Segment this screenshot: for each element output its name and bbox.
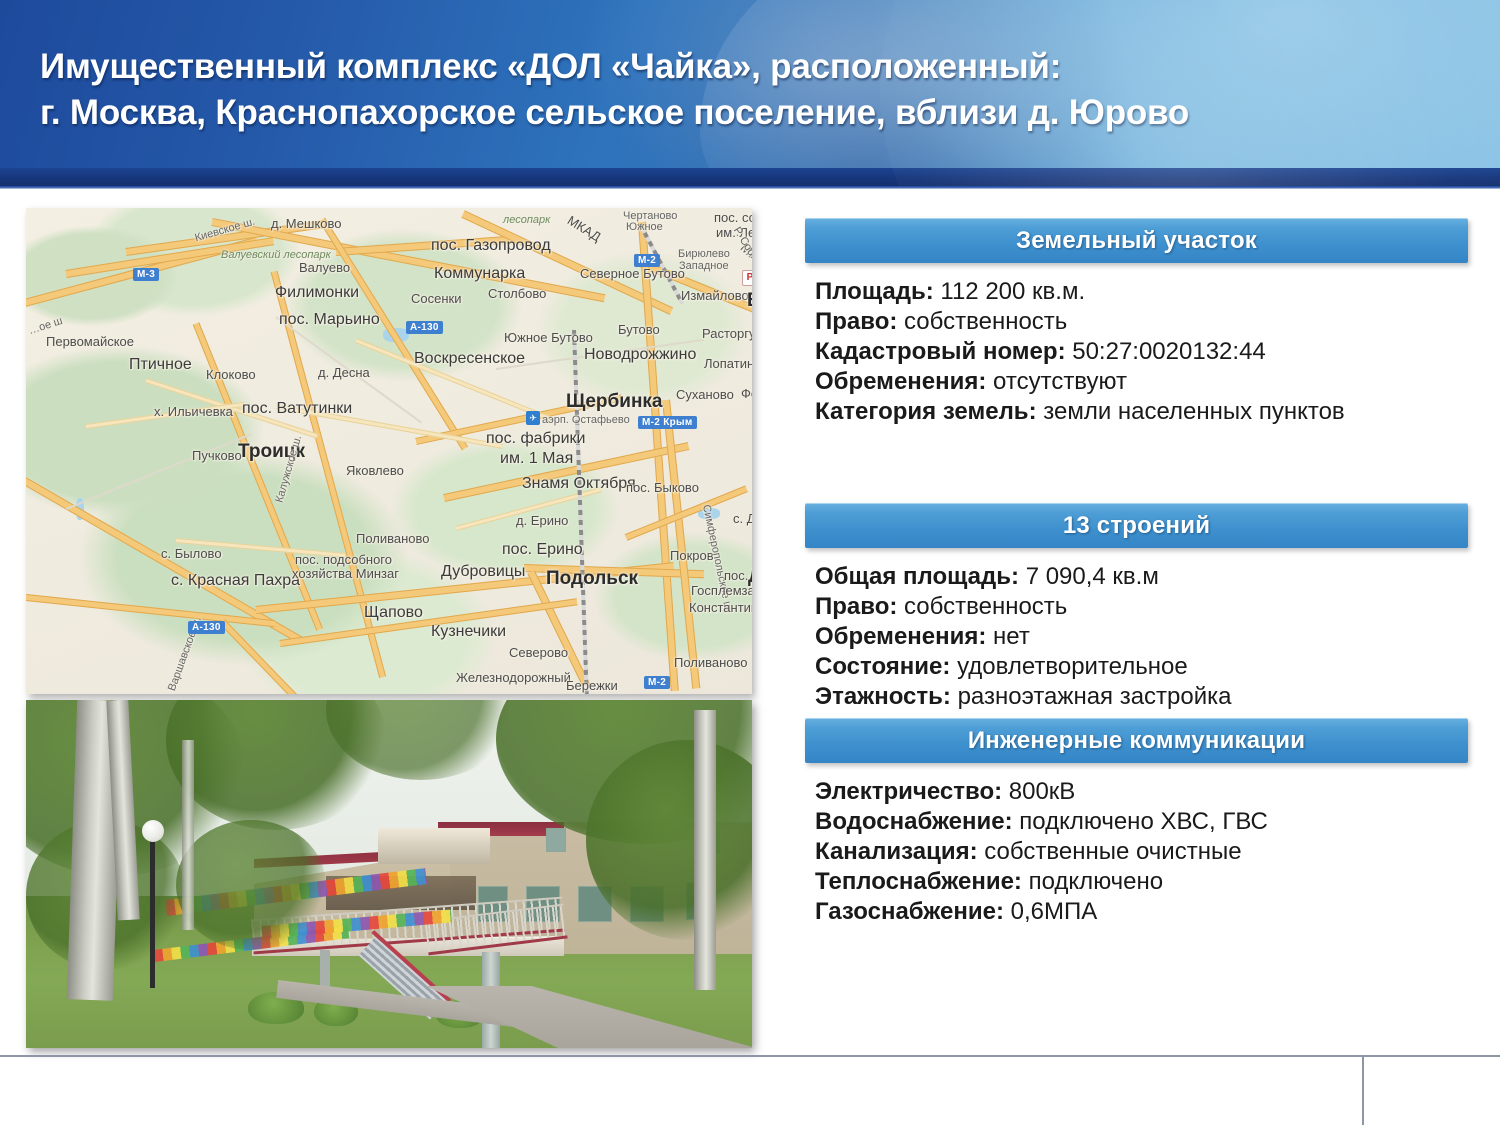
section-land-plot: Земельный участок Площадь: 112 200 кв.м.… <box>805 218 1468 427</box>
footer-vertical-divider <box>1362 1057 1364 1125</box>
detail-row: Водоснабжение: подключено ХВС, ГВС <box>815 807 1468 837</box>
photo-gallery-recess <box>378 828 490 864</box>
map-route-shield: А-130 <box>188 621 225 634</box>
detail-value: нет <box>993 623 1030 650</box>
detail-row: Кадастровый номер: 50:27:0020132:44 <box>815 337 1468 367</box>
detail-label: Этажность: <box>815 683 951 710</box>
detail-value: 800кВ <box>1009 778 1076 805</box>
location-map[interactable]: P ✈ д. МешковоКиевское ш.Валуевский лесо… <box>26 208 752 694</box>
detail-value: 7 090,4 кв.м <box>1026 563 1159 590</box>
header-bottom-band <box>0 168 1500 186</box>
detail-value: удовлетворительное <box>957 653 1188 680</box>
site-photo[interactable] <box>26 700 752 1048</box>
detail-label: Кадастровый номер: <box>815 338 1066 365</box>
detail-row: Канализация: собственные очистные <box>815 837 1468 867</box>
detail-value: 0,6МПА <box>1011 898 1098 925</box>
detail-value: собственность <box>904 308 1067 335</box>
photo-tree-trunk <box>694 710 716 990</box>
section-bar-land-plot: Земельный участок <box>805 218 1468 263</box>
detail-label: Право: <box>815 593 897 620</box>
detail-label: Площадь: <box>815 278 934 305</box>
section-title: Инженерные коммуникации <box>968 727 1305 755</box>
detail-row: Обременения: отсутствуют <box>815 367 1468 397</box>
map-route-shield: М-2 <box>644 676 670 689</box>
detail-value: подключено ХВС, ГВС <box>1019 808 1268 835</box>
detail-row: Газоснабжение: 0,6МПА <box>815 897 1468 927</box>
photo-lamp-post <box>150 832 155 988</box>
detail-row: Теплоснабжение: подключено <box>815 867 1468 897</box>
detail-value: собственность <box>904 593 1067 620</box>
photo-tree-trunk <box>182 740 194 930</box>
header-divider <box>0 186 1500 189</box>
photo-tree-canopy <box>176 820 326 950</box>
detail-row: Общая площадь: 7 090,4 кв.м <box>815 562 1468 592</box>
detail-label: Состояние: <box>815 653 950 680</box>
detail-row: Этажность: разноэтажная застройка <box>815 682 1468 712</box>
detail-row: Электричество: 800кВ <box>815 777 1468 807</box>
footer-divider <box>0 1055 1500 1057</box>
section-body-buildings: Общая площадь: 7 090,4 кв.м Право: собст… <box>805 548 1468 712</box>
section-bar-buildings: 13 строений <box>805 503 1468 548</box>
detail-value: отсутствуют <box>993 368 1127 395</box>
detail-label: Газоснабжение: <box>815 898 1004 925</box>
detail-label: Электричество: <box>815 778 1002 805</box>
detail-label: Канализация: <box>815 838 978 865</box>
section-body-utilities: Электричество: 800кВ Водоснабжение: подк… <box>805 763 1468 927</box>
photo-window <box>546 828 566 852</box>
detail-row: Право: собственность <box>815 592 1468 622</box>
map-route-shield: М-2 <box>634 254 660 267</box>
detail-value: земли населенных пунктов <box>1043 398 1344 425</box>
detail-value: 112 200 кв.м. <box>940 278 1085 305</box>
detail-label: Водоснабжение: <box>815 808 1013 835</box>
detail-label: Право: <box>815 308 897 335</box>
detail-label: Категория земель: <box>815 398 1037 425</box>
detail-value: разноэтажная застройка <box>958 683 1232 710</box>
section-title: 13 строений <box>1063 512 1210 540</box>
photo-lamp-head <box>142 820 164 842</box>
detail-label: Теплоснабжение: <box>815 868 1022 895</box>
map-airport-icon: ✈ <box>526 411 540 425</box>
slide-header: Имущественный комплекс «ДОЛ «Чайка», рас… <box>0 0 1500 186</box>
detail-row: Обременения: нет <box>815 622 1468 652</box>
detail-row: Состояние: удовлетворительное <box>815 652 1468 682</box>
section-buildings: 13 строений Общая площадь: 7 090,4 кв.м … <box>805 503 1468 712</box>
section-title: Земельный участок <box>1016 227 1257 255</box>
map-poi-icon: P <box>742 270 752 286</box>
page-title: Имущественный комплекс «ДОЛ «Чайка», рас… <box>40 44 1460 136</box>
detail-row: Право: собственность <box>815 307 1468 337</box>
detail-row: Площадь: 112 200 кв.м. <box>815 277 1468 307</box>
detail-label: Обременения: <box>815 368 986 395</box>
map-route-shield: А-130 <box>406 321 443 334</box>
detail-label: Обременения: <box>815 623 986 650</box>
detail-value: собственные очистные <box>984 838 1241 865</box>
detail-label: Общая площадь: <box>815 563 1019 590</box>
section-body-land-plot: Площадь: 112 200 кв.м. Право: собственно… <box>805 263 1468 427</box>
detail-value: 50:27:0020132:44 <box>1072 338 1266 365</box>
section-utilities: Инженерные коммуникации Электричество: 8… <box>805 718 1468 927</box>
detail-value: подключено <box>1029 868 1164 895</box>
detail-row: Категория земель: земли населенных пункт… <box>815 397 1468 427</box>
map-route-shield: М-3 <box>133 268 159 281</box>
section-bar-utilities: Инженерные коммуникации <box>805 718 1468 763</box>
map-route-shield: М-2 Крым <box>638 416 697 429</box>
